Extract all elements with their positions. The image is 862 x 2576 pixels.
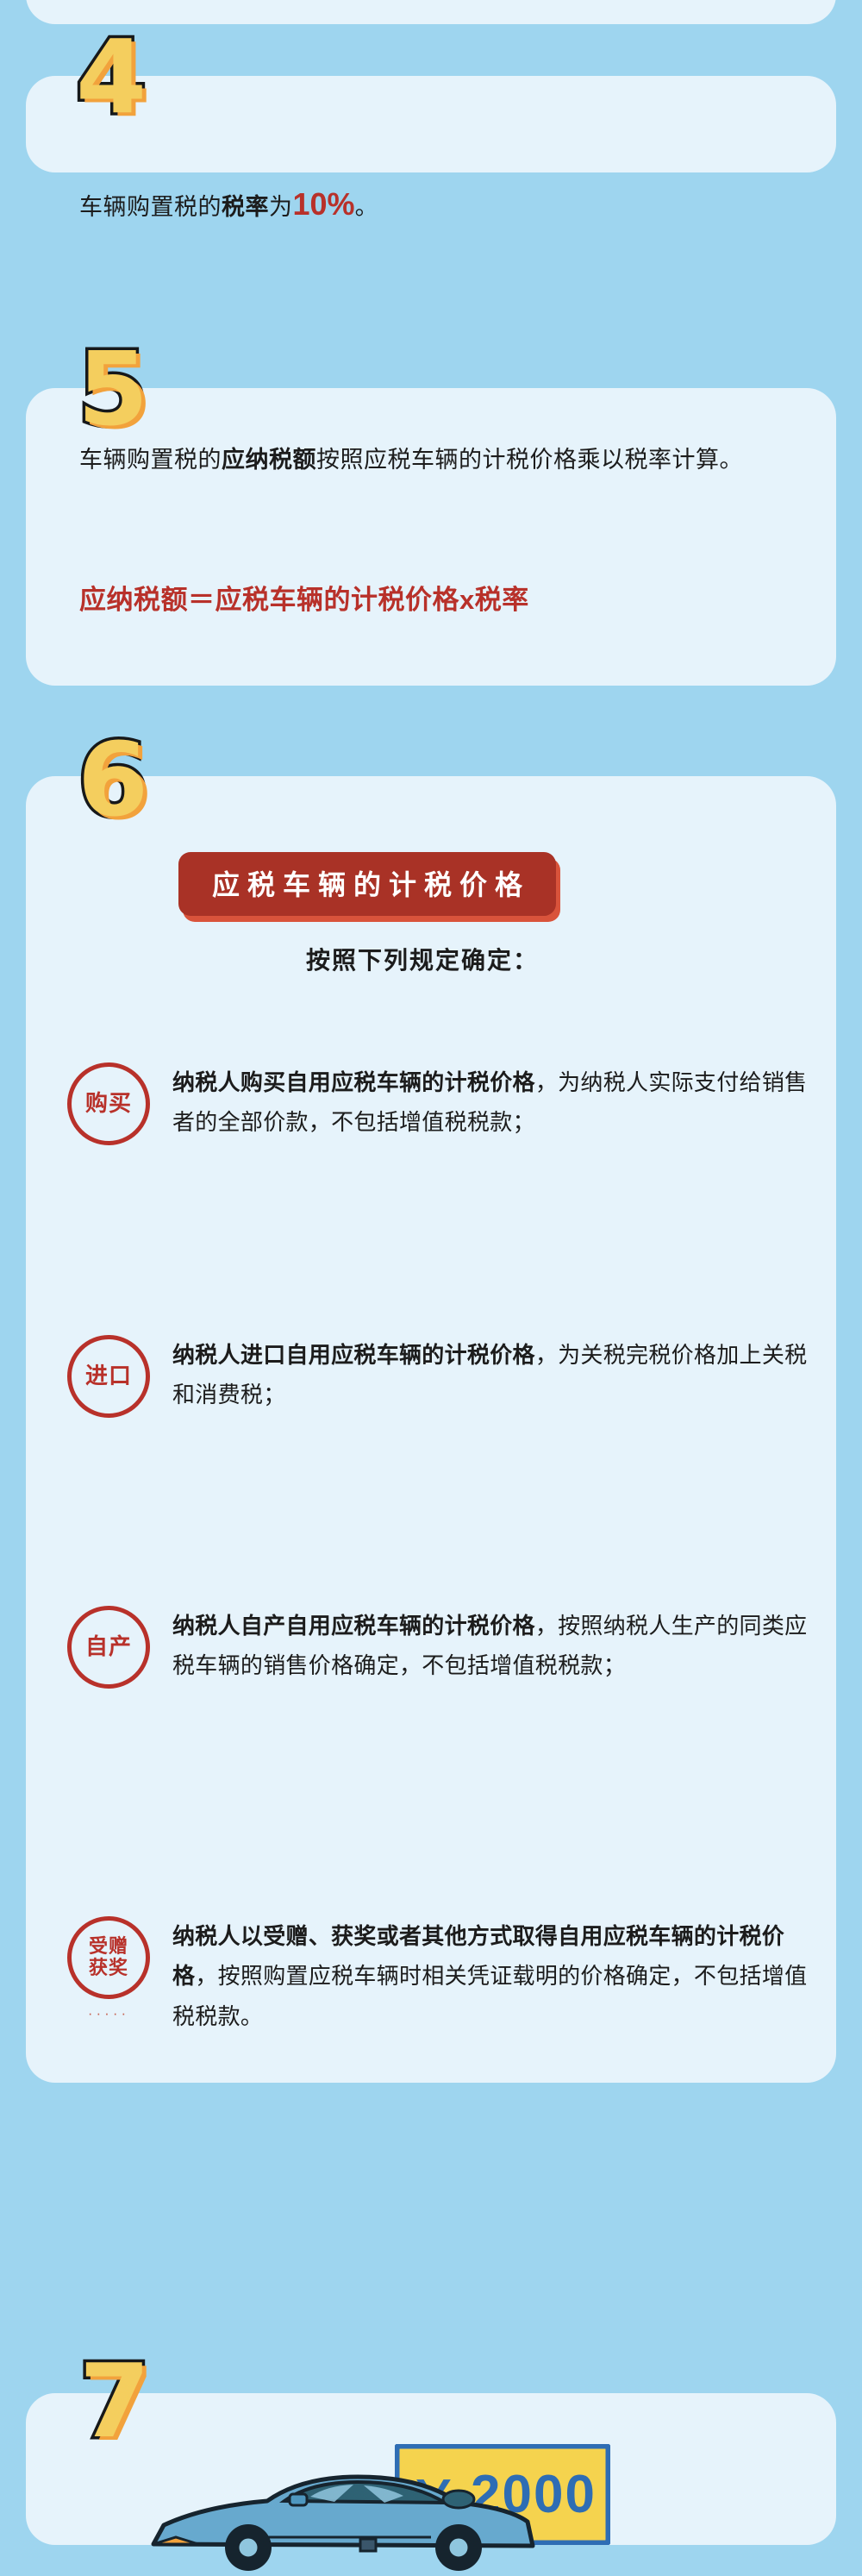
card-5 [26,388,836,686]
card-6-banner-label: 应税车辆的计税价格 [178,852,556,916]
card-3-bottom-sliver [26,0,836,24]
card-4-text-suffix: 。 [355,194,379,220]
stamp-purchase-label: 购买 [85,1091,132,1116]
card-4-number: 4 [76,26,145,128]
stamp-import: 进口 [67,1335,150,1418]
card-5-text-a: 车辆购置税的 [79,447,222,473]
card-4 [26,76,836,172]
card-5-formula: 应纳税额＝应税车辆的计税价格x税率 [79,580,803,621]
car-illustration [138,2468,543,2545]
card-5-text-bold: 应纳税额 [222,447,316,473]
card-4-text: 车辆购置税的税率为10%。 [79,178,786,231]
clause-gift-award-rest: ，按照购置应税车辆时相关凭证载明的价格确定，不包括增值税税款。 [172,1963,807,2028]
card-7-number: 7 [79,2350,148,2452]
clause-row-purchase: 购买 纳税人购买自用应税车辆的计税价格，为纳税人实际支付给销售者的全部价款，不包… [67,1062,809,1145]
clause-text-selfmade: 纳税人自产自用应税车辆的计税价格，按照纳税人生产的同类应税车辆的销售价格确定，不… [172,1606,809,1686]
card-6-number: 6 [78,729,147,830]
car-svg [138,2468,543,2572]
card-5-text: 车辆购置税的应纳税额按照应税车辆的计税价格乘以税率计算。 [79,440,769,479]
stamp-purchase: 购买 [67,1062,150,1145]
clause-import-bold: 纳税人进口自用应税车辆的计税价格 [172,1342,535,1368]
stamp-gift-award-line1: 受赠 [89,1936,128,1958]
card-4-text-mid: 为 [269,194,293,220]
clause-text-gift-award: 纳税人以受赠、获奖或者其他方式取得自用应税车辆的计税价格，按照购置应税车辆时相关… [172,1916,809,2036]
card-5-number: 5 [78,338,147,440]
card-4-text-prefix: 车辆购置税的 [79,194,222,220]
stamp-selfmade-label: 自产 [85,1634,132,1659]
stamp-dots-decoration: ····· [67,2005,150,2022]
stamp-gift-award: 受赠 获奖 [67,1916,150,1999]
stamp-gift-award-line2: 获奖 [89,1958,128,1979]
card-6-subhead: 按照下列规定确定： [138,942,707,976]
clause-selfmade-bold: 纳税人自产自用应税车辆的计税价格 [172,1613,535,1639]
stamp-selfmade: 自产 [67,1606,150,1689]
card-6-banner: 应税车辆的计税价格 [178,852,556,916]
clause-row-selfmade: 自产 纳税人自产自用应税车辆的计税价格，按照纳税人生产的同类应税车辆的销售价格确… [67,1606,809,1689]
card-5-text-b: 按照应税车辆的计税价格乘以税率计算。 [316,447,743,473]
clause-row-gift-award: 受赠 获奖 ····· 纳税人以受赠、获奖或者其他方式取得自用应税车辆的计税价格… [67,1916,809,2036]
clause-text-purchase: 纳税人购买自用应税车辆的计税价格，为纳税人实际支付给销售者的全部价款，不包括增值… [172,1062,809,1143]
clause-text-import: 纳税人进口自用应税车辆的计税价格，为关税完税价格加上关税和消费税； [172,1335,809,1415]
card-4-rate-value: 10% [293,186,355,222]
clause-purchase-bold: 纳税人购买自用应税车辆的计税价格 [172,1069,535,1095]
stamp-import-label: 进口 [85,1363,132,1388]
clause-row-import: 进口 纳税人进口自用应税车辆的计税价格，为关税完税价格加上关税和消费税； [67,1335,809,1418]
card-4-text-bold: 税率 [222,194,269,220]
